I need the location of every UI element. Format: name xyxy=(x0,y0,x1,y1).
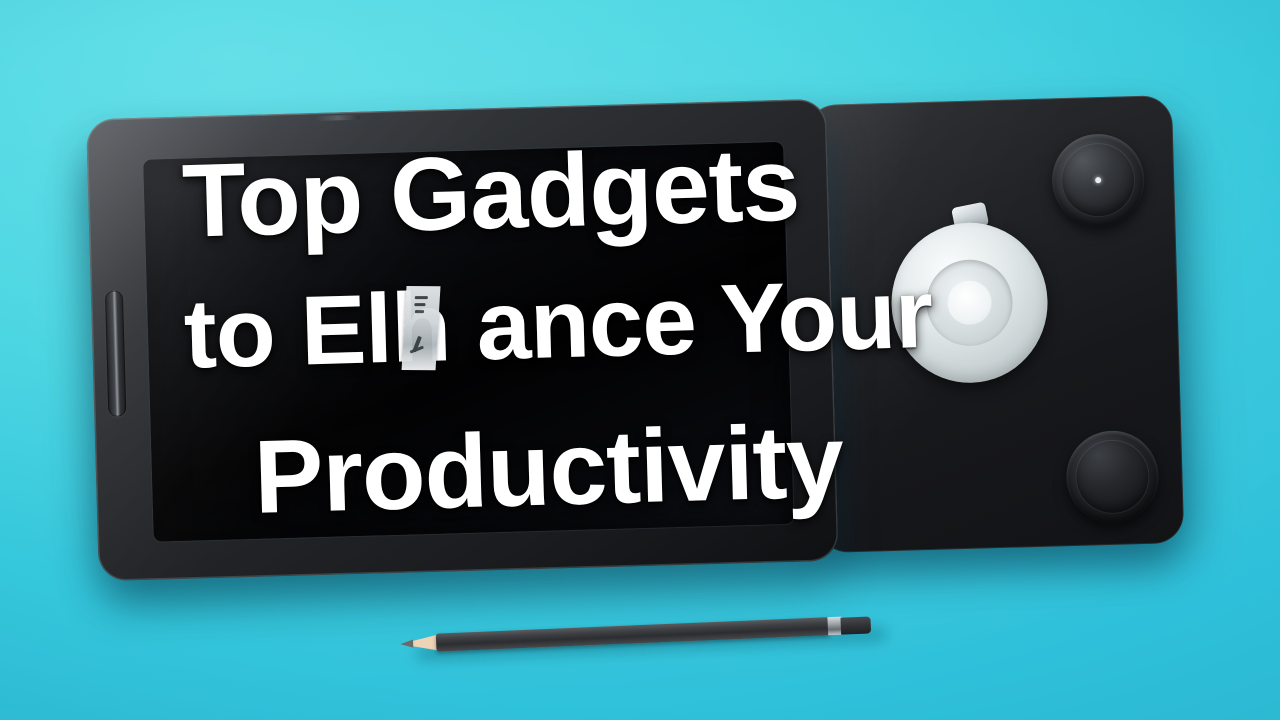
pencil-lead xyxy=(400,640,413,649)
tablet[interactable] xyxy=(86,99,839,581)
tablet-outline xyxy=(86,99,839,581)
device-group: Top Gadgets to Elh ance Your Productivit… xyxy=(0,0,1280,720)
pencil-end-cap xyxy=(840,616,871,634)
scene: Top Gadgets to Elh ance Your Productivit… xyxy=(0,0,1280,720)
knob-ring xyxy=(1074,439,1150,515)
